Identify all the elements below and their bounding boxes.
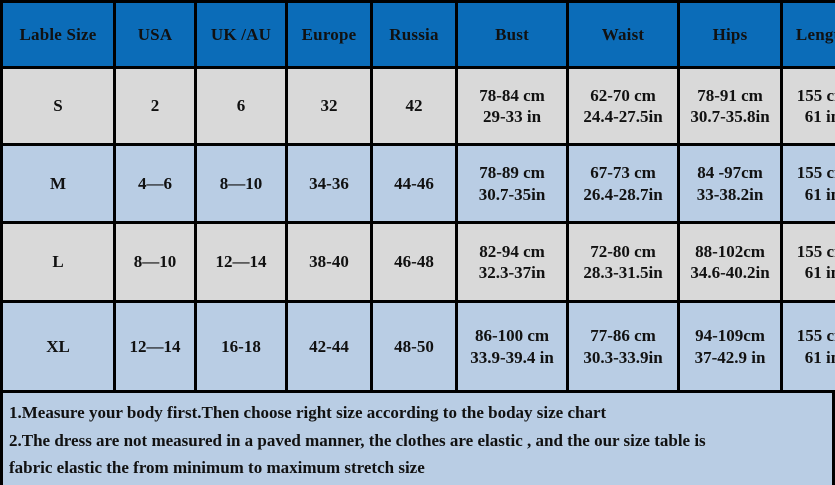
table-row: M 4—6 8—10 34-36 44-46 78-89 cm 30.7-35i…: [3, 146, 835, 221]
waist-in: 28.3-31.5in: [569, 262, 677, 283]
table-body: S 2 6 32 42 78-84 cm 29-33 in 62-70 cm 2…: [3, 69, 835, 390]
note-line-2: 2.The dress are not measured in a paved …: [7, 427, 828, 455]
cell-russia: 48-50: [373, 303, 455, 390]
cell-size: L: [3, 224, 113, 300]
waist-in: 26.4-28.7in: [569, 184, 677, 205]
cell-waist: 62-70 cm 24.4-27.5in: [569, 69, 677, 143]
cell-hips: 78-91 cm 30.7-35.8in: [680, 69, 780, 143]
cell-uk-au: 8—10: [197, 146, 285, 221]
bust-in: 30.7-35in: [458, 184, 566, 205]
bust-in: 33.9-39.4 in: [458, 347, 566, 368]
bust-cm: 78-89 cm: [458, 162, 566, 183]
cell-uk-au: 12—14: [197, 224, 285, 300]
table-header: Lable Size USA UK /AU Europe Russia Bust…: [3, 3, 835, 66]
column-header-waist: Waist: [569, 3, 677, 66]
length-in: 61 in: [783, 262, 835, 283]
cell-size: S: [3, 69, 113, 143]
hips-in: 30.7-35.8in: [680, 106, 780, 127]
cell-hips: 88-102cm 34.6-40.2in: [680, 224, 780, 300]
cell-usa: 12—14: [116, 303, 194, 390]
cell-russia: 42: [373, 69, 455, 143]
bust-in: 32.3-37in: [458, 262, 566, 283]
cell-hips: 84 -97cm 33-38.2in: [680, 146, 780, 221]
waist-cm: 72-80 cm: [569, 241, 677, 262]
bust-cm: 86-100 cm: [458, 325, 566, 346]
cell-hips: 94-109cm 37-42.9 in: [680, 303, 780, 390]
hips-cm: 78-91 cm: [680, 85, 780, 106]
hips-cm: 88-102cm: [680, 241, 780, 262]
cell-size: XL: [3, 303, 113, 390]
cell-bust: 82-94 cm 32.3-37in: [458, 224, 566, 300]
hips-cm: 94-109cm: [680, 325, 780, 346]
bust-cm: 82-94 cm: [458, 241, 566, 262]
column-header-russia: Russia: [373, 3, 455, 66]
cell-size: M: [3, 146, 113, 221]
table-row: XL 12—14 16-18 42-44 48-50 86-100 cm 33.…: [3, 303, 835, 390]
waist-in: 24.4-27.5in: [569, 106, 677, 127]
length-in: 61 in: [783, 184, 835, 205]
cell-bust: 78-84 cm 29-33 in: [458, 69, 566, 143]
cell-uk-au: 6: [197, 69, 285, 143]
cell-waist: 72-80 cm 28.3-31.5in: [569, 224, 677, 300]
cell-bust: 86-100 cm 33.9-39.4 in: [458, 303, 566, 390]
column-header-uk-au: UK /AU: [197, 3, 285, 66]
length-cm: 155 cm: [783, 325, 835, 346]
size-table: Lable Size USA UK /AU Europe Russia Bust…: [0, 0, 835, 393]
length-in: 61 in: [783, 347, 835, 368]
waist-in: 30.3-33.9in: [569, 347, 677, 368]
column-header-usa: USA: [116, 3, 194, 66]
cell-waist: 67-73 cm 26.4-28.7in: [569, 146, 677, 221]
cell-usa: 8—10: [116, 224, 194, 300]
cell-europe: 34-36: [288, 146, 370, 221]
cell-length: 155 cm 61 in: [783, 303, 835, 390]
table-row: S 2 6 32 42 78-84 cm 29-33 in 62-70 cm 2…: [3, 69, 835, 143]
column-header-europe: Europe: [288, 3, 370, 66]
bust-cm: 78-84 cm: [458, 85, 566, 106]
cell-europe: 42-44: [288, 303, 370, 390]
hips-cm: 84 -97cm: [680, 162, 780, 183]
cell-europe: 38-40: [288, 224, 370, 300]
cell-russia: 44-46: [373, 146, 455, 221]
hips-in: 37-42.9 in: [680, 347, 780, 368]
column-header-bust: Bust: [458, 3, 566, 66]
cell-bust: 78-89 cm 30.7-35in: [458, 146, 566, 221]
header-row: Lable Size USA UK /AU Europe Russia Bust…: [3, 3, 835, 66]
note-line-3: fabric elastic the from minimum to maxim…: [7, 454, 828, 482]
waist-cm: 67-73 cm: [569, 162, 677, 183]
length-cm: 155 cm: [783, 85, 835, 106]
length-cm: 155 cm: [783, 241, 835, 262]
table-row: L 8—10 12—14 38-40 46-48 82-94 cm 32.3-3…: [3, 224, 835, 300]
cell-length: 155 cm 61 in: [783, 69, 835, 143]
cell-europe: 32: [288, 69, 370, 143]
column-header-length: Length: [783, 3, 835, 66]
cell-russia: 46-48: [373, 224, 455, 300]
size-chart: Lable Size USA UK /AU Europe Russia Bust…: [0, 0, 835, 485]
column-header-hips: Hips: [680, 3, 780, 66]
cell-uk-au: 16-18: [197, 303, 285, 390]
column-header-lable-size: Lable Size: [3, 3, 113, 66]
length-cm: 155 cm: [783, 162, 835, 183]
cell-usa: 4—6: [116, 146, 194, 221]
cell-length: 155 cm 61 in: [783, 224, 835, 300]
notes-section: 1.Measure your body first.Then choose ri…: [3, 393, 832, 485]
length-in: 61 in: [783, 106, 835, 127]
waist-cm: 62-70 cm: [569, 85, 677, 106]
note-line-1: 1.Measure your body first.Then choose ri…: [7, 399, 828, 427]
cell-usa: 2: [116, 69, 194, 143]
hips-in: 33-38.2in: [680, 184, 780, 205]
cell-waist: 77-86 cm 30.3-33.9in: [569, 303, 677, 390]
waist-cm: 77-86 cm: [569, 325, 677, 346]
bust-in: 29-33 in: [458, 106, 566, 127]
hips-in: 34.6-40.2in: [680, 262, 780, 283]
cell-length: 155 cm 61 in: [783, 146, 835, 221]
